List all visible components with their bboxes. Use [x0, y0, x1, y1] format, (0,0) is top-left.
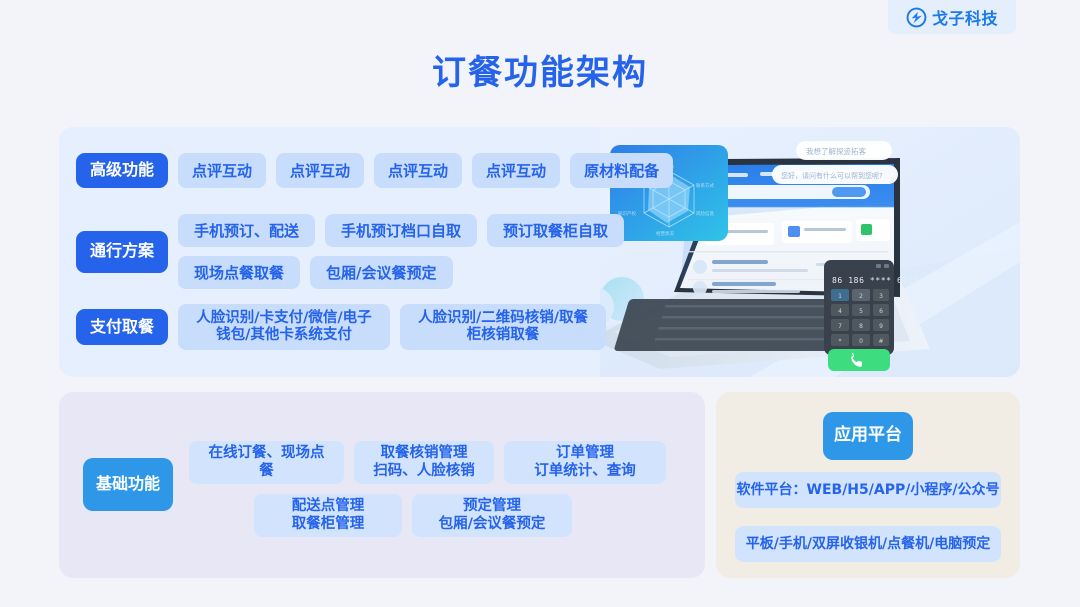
- svg-text:1: 1: [838, 293, 842, 300]
- chip-solution-2[interactable]: 手机预订档口自取: [325, 214, 477, 247]
- solutions-line-2: 现场点餐取餐 包厢/会议餐预定: [178, 256, 624, 289]
- chip-solution-4[interactable]: 现场点餐取餐: [178, 256, 300, 289]
- chip-basic-reservation[interactable]: 预定管理 包厢/会议餐预定: [412, 494, 572, 537]
- svg-text:86 186 **** 6723: 86 186 **** 6723: [832, 276, 919, 285]
- geezi-logo-icon: [906, 7, 927, 28]
- row-badge-payment: 支付取餐: [76, 309, 168, 345]
- row-badge-solutions: 通行方案: [76, 231, 168, 273]
- svg-text:经营状况: 经营状况: [656, 230, 674, 237]
- chip-solution-1[interactable]: 手机预订、配送: [178, 214, 315, 247]
- svg-text:2: 2: [859, 293, 863, 300]
- application-platform-panel: 应用平台 软件平台：WEB/H5/APP/小程序/公众号 平板/手机/双屏收银机…: [716, 392, 1020, 578]
- general-solutions-row: 通行方案 手机预订、配送 手机预订档口自取 预订取餐柜自取 现场点餐取餐 包厢/…: [76, 214, 624, 289]
- svg-text:4: 4: [838, 308, 842, 315]
- chip-advanced-3[interactable]: 点评互动: [374, 153, 462, 188]
- solutions-line-1: 手机预订、配送 手机预订档口自取 预订取餐柜自取: [178, 214, 624, 247]
- chip-basic-online-order[interactable]: 在线订餐、现场点餐: [189, 441, 344, 484]
- svg-text:您好，请问有什么可以帮到您呢?: 您好，请问有什么可以帮到您呢?: [781, 171, 883, 180]
- chip-basic-delivery-point[interactable]: 配送点管理 取餐柜管理: [254, 494, 402, 537]
- chip-basic-order-mgmt[interactable]: 订单管理 订单统计、查询: [504, 441, 666, 484]
- chip-payment-1[interactable]: 人脸识别/卡支付/微信/电子钱包/其他卡系统支付: [178, 304, 390, 350]
- svg-text:*: *: [839, 338, 842, 345]
- row-badge-advanced: 高级功能: [76, 153, 168, 188]
- chip-advanced-4[interactable]: 点评互动: [472, 153, 560, 188]
- basic-functions-badge: 基础功能: [83, 458, 173, 511]
- chip-solution-5[interactable]: 包厢/会议餐预定: [310, 256, 452, 289]
- brand-logo: 戈子科技: [888, 0, 1016, 34]
- basic-functions-grid: 在线订餐、现场点餐 取餐核销管理 扫码、人脸核销 订单管理 订单统计、查询 配送…: [189, 441, 666, 547]
- page-title: 订餐功能架构: [0, 45, 1080, 94]
- slide-root: 戈子科技 订餐功能架构: [0, 0, 1080, 607]
- chip-solution-3[interactable]: 预订取餐柜自取: [487, 214, 624, 247]
- svg-text:#: #: [878, 338, 883, 345]
- basic-line-2: 配送点管理 取餐柜管理 预定管理 包厢/会议餐预定: [189, 494, 666, 537]
- payment-pickup-row: 支付取餐 人脸识别/卡支付/微信/电子钱包/其他卡系统支付 人脸识别/二维码核销…: [76, 304, 606, 350]
- svg-text:3: 3: [879, 293, 883, 300]
- chip-basic-pickup-verify[interactable]: 取餐核销管理 扫码、人脸核销: [354, 441, 494, 484]
- svg-text:7: 7: [838, 323, 842, 330]
- basic-functions-panel: 基础功能 在线订餐、现场点餐 取餐核销管理 扫码、人脸核销 订单管理 订单统计、…: [59, 392, 705, 578]
- top-panel: AI层客户 企业画像联系方式 风险信息经营状况 知识产权工商信息: [59, 127, 1020, 377]
- svg-text:0: 0: [859, 338, 863, 345]
- chip-advanced-5[interactable]: 原材料配备: [570, 153, 673, 188]
- svg-text:联系方式: 联系方式: [696, 182, 714, 189]
- svg-text:8: 8: [859, 323, 863, 330]
- advanced-features-row: 高级功能 点评互动 点评互动 点评互动 点评互动 原材料配备: [76, 153, 673, 188]
- chip-payment-2[interactable]: 人脸识别/二维码核销/取餐柜核销取餐: [400, 304, 606, 350]
- chip-advanced-1[interactable]: 点评互动: [178, 153, 266, 188]
- svg-text:6: 6: [879, 308, 883, 315]
- application-platform-badge: 应用平台: [823, 412, 913, 460]
- svg-text:9: 9: [879, 323, 883, 330]
- chip-advanced-2[interactable]: 点评互动: [276, 153, 364, 188]
- chip-software-platform[interactable]: 软件平台：WEB/H5/APP/小程序/公众号: [735, 472, 1001, 508]
- svg-text:我想了解探迹拓客: 我想了解探迹拓客: [806, 146, 866, 156]
- chip-hardware-platform[interactable]: 平板/手机/双屏收银机/点餐机/电脑预定: [735, 526, 1001, 562]
- svg-text:风险信息: 风险信息: [696, 210, 714, 217]
- basic-line-1: 在线订餐、现场点餐 取餐核销管理 扫码、人脸核销 订单管理 订单统计、查询: [189, 441, 666, 484]
- brand-name: 戈子科技: [932, 5, 998, 29]
- svg-text:5: 5: [859, 308, 863, 315]
